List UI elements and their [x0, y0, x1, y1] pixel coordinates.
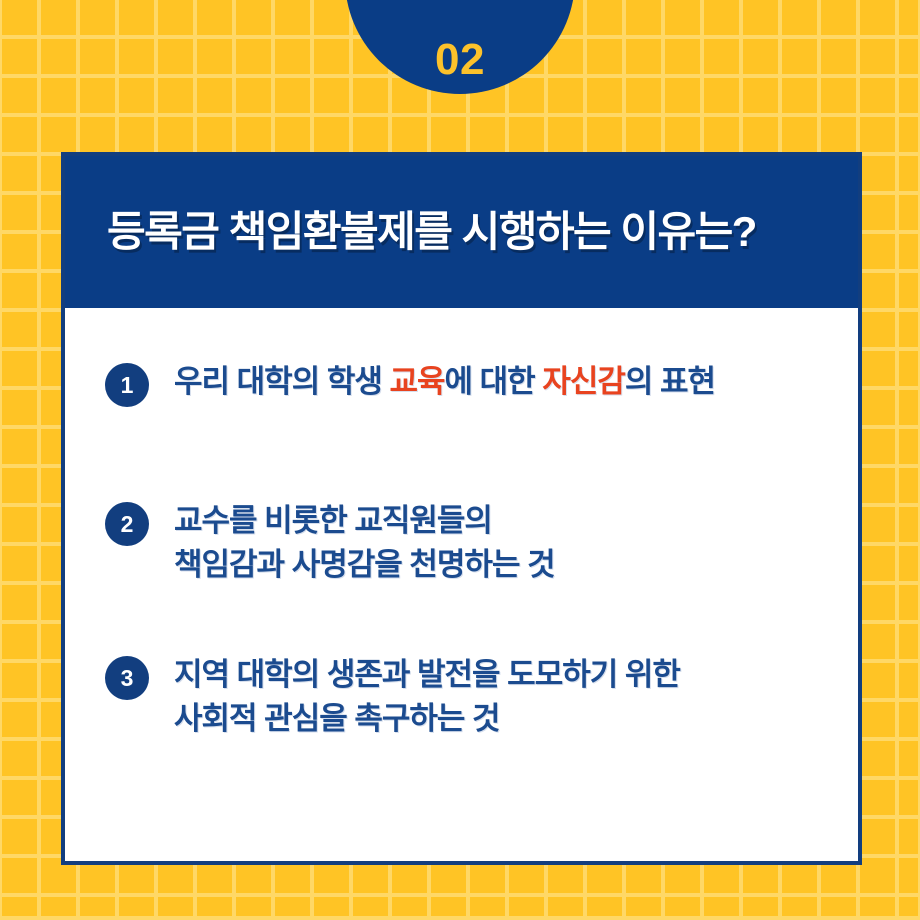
- list-item: 2 교수를 비롯한 교직원들의책임감과 사명감을 천명하는 것: [105, 499, 818, 587]
- text-run: 책임감과 사명감을 천명하는 것: [174, 547, 555, 582]
- list-item-line: 우리 대학의 학생 교육에 대한 자신감의 표현: [174, 360, 715, 404]
- list-item-text: 지역 대학의 생존과 발전을 도모하기 위한사회적 관심을 촉구하는 것: [174, 653, 680, 741]
- list-item: 1 우리 대학의 학생 교육에 대한 자신감의 표현: [105, 360, 818, 407]
- list-item-line: 사회적 관심을 촉구하는 것: [174, 697, 680, 741]
- text-run: 교수를 비롯한 교직원들의: [174, 503, 492, 538]
- list-item-line: 지역 대학의 생존과 발전을 도모하기 위한: [174, 653, 680, 697]
- step-number-badge: 02: [345, 0, 575, 94]
- card-header: 등록금 책임환불제를 시행하는 이유는?: [65, 156, 858, 308]
- text-run: 에 대한: [445, 364, 543, 399]
- list-item: 3 지역 대학의 생존과 발전을 도모하기 위한사회적 관심을 촉구하는 것: [105, 653, 818, 741]
- text-run: 의 표현: [625, 364, 715, 399]
- list-item-text: 우리 대학의 학생 교육에 대한 자신감의 표현: [174, 360, 715, 404]
- text-run: 사회적 관심을 촉구하는 것: [174, 701, 500, 736]
- card-body: 1 우리 대학의 학생 교육에 대한 자신감의 표현 2 교수를 비롯한 교직원…: [65, 308, 858, 861]
- list-item-number-badge: 3: [105, 656, 149, 700]
- list-item-number-badge: 1: [105, 363, 149, 407]
- list-item-text: 교수를 비롯한 교직원들의책임감과 사명감을 천명하는 것: [174, 499, 555, 587]
- card-title: 등록금 책임환불제를 시행하는 이유는?: [107, 209, 756, 255]
- step-number-label: 02: [435, 38, 485, 82]
- list-item-line: 책임감과 사명감을 천명하는 것: [174, 543, 555, 587]
- list-item-line: 교수를 비롯한 교직원들의: [174, 499, 555, 543]
- highlighted-keyword: 교육: [389, 364, 444, 399]
- list-item-number-badge: 2: [105, 502, 149, 546]
- text-run: 지역 대학의 생존과 발전을 도모하기 위한: [174, 657, 680, 692]
- content-card: 등록금 책임환불제를 시행하는 이유는? 1 우리 대학의 학생 교육에 대한 …: [61, 152, 862, 865]
- text-run: 우리 대학의 학생: [174, 364, 389, 399]
- poster-canvas: 02 등록금 책임환불제를 시행하는 이유는? 1 우리 대학의 학생 교육에 …: [0, 0, 920, 920]
- highlighted-keyword: 자신감: [542, 364, 625, 399]
